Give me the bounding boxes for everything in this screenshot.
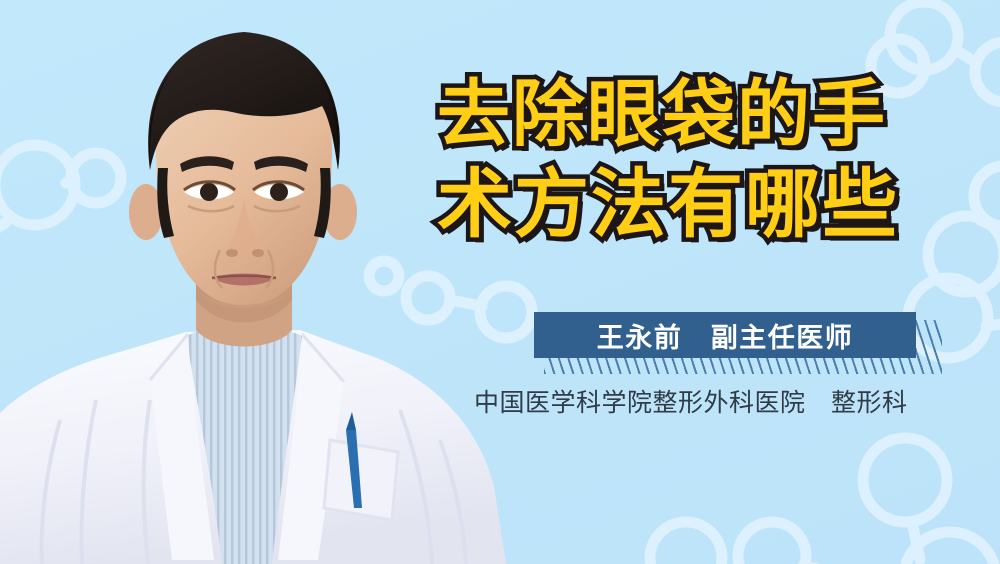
title-line-1: 去除眼袋的手 xyxy=(437,78,982,152)
doctor-affiliation: 中国医学科学院整形外科医院 整形科 xyxy=(474,383,908,419)
video-thumbnail-card: 去除眼袋的手 术方法有哪些 王永前 副主任医师 中国医学科学院整形外科医院 整形… xyxy=(0,0,1000,564)
doctor-name-banner: 王永前 副主任医师 xyxy=(534,312,916,358)
title-line-2: 术方法有哪些 xyxy=(437,166,982,243)
video-title: 去除眼袋的手 术方法有哪些 xyxy=(437,78,982,243)
doctor-name-banner-group: 王永前 副主任医师 xyxy=(534,312,942,374)
doctor-name-label: 王永前 副主任医师 xyxy=(597,316,854,355)
